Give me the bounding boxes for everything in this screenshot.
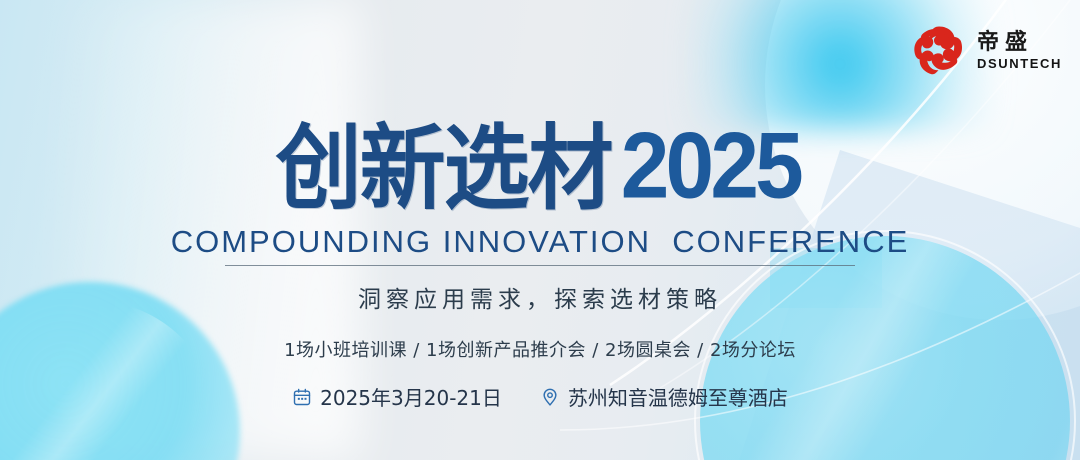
- event-meta: 2025年3月20-21日 苏州知音温德姆至尊酒店: [0, 382, 1080, 411]
- location-pin-icon: [540, 387, 560, 407]
- hero-title-cn: 创新选材: [276, 123, 612, 216]
- calendar-icon: [292, 387, 312, 407]
- hero-subtitle-en: COMPOUNDING INNOVATION CONFERENCE: [0, 224, 1080, 260]
- event-date-text: 2025年3月20-21日: [320, 382, 502, 411]
- hero-title-year: 2025: [620, 119, 799, 213]
- conference-banner: 帝盛 DSUNTECH 创新选材 2025 COMPOUNDING INNOVA…: [0, 0, 1080, 460]
- event-location: 苏州知音温德姆至尊酒店: [540, 382, 788, 411]
- title-divider: [225, 265, 855, 266]
- event-location-text: 苏州知音温德姆至尊酒店: [568, 382, 788, 411]
- banner-content: 创新选材 2025 COMPOUNDING INNOVATION CONFERE…: [0, 0, 1080, 411]
- hero-tagline: 洞察应用需求，探索选材策略: [0, 280, 1080, 314]
- session-list: 1场小班培训课 / 1场创新产品推介会 / 2场圆桌会 / 2场分论坛: [0, 336, 1080, 362]
- hero-title-row: 创新选材 2025: [0, 112, 1080, 212]
- event-date: 2025年3月20-21日: [292, 382, 502, 411]
